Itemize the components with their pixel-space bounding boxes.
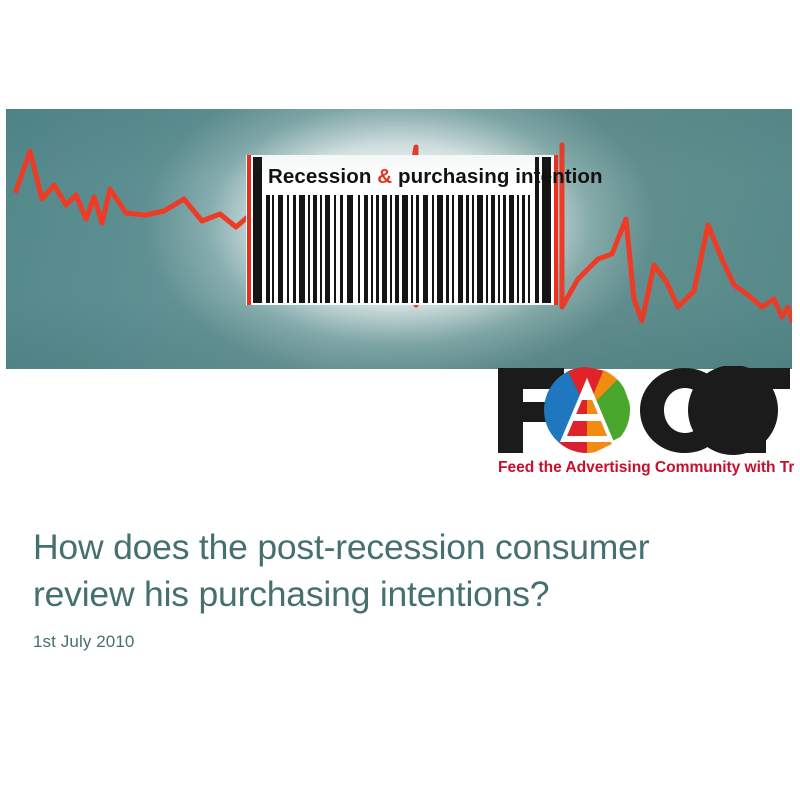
barcode-panel: Recession & purchasing intention [6,109,792,369]
slide-date: 1st July 2010 [33,631,134,653]
barcode-caption-accent: & [377,165,392,188]
page-title: How does the post-recession consumer rev… [33,524,763,618]
barcode-caption-tail: purchasing intention [392,165,603,188]
title-block: How does the post-recession consumer rev… [33,524,763,618]
logo-letter-a-wheel [544,367,632,458]
barcode-edge-left [247,155,251,305]
fact-logo: Feed the Advertising Community with Tren… [492,366,794,478]
logo-tagline: Feed the Advertising Community with Tren… [498,459,794,476]
barcode-caption: Recession & purchasing intention [268,165,603,188]
presentation-slide: Recession & purchasing intention [0,0,800,800]
hero-banner: Recession & purchasing intention [6,109,792,369]
barcode-caption-plain: Recession [268,165,377,188]
